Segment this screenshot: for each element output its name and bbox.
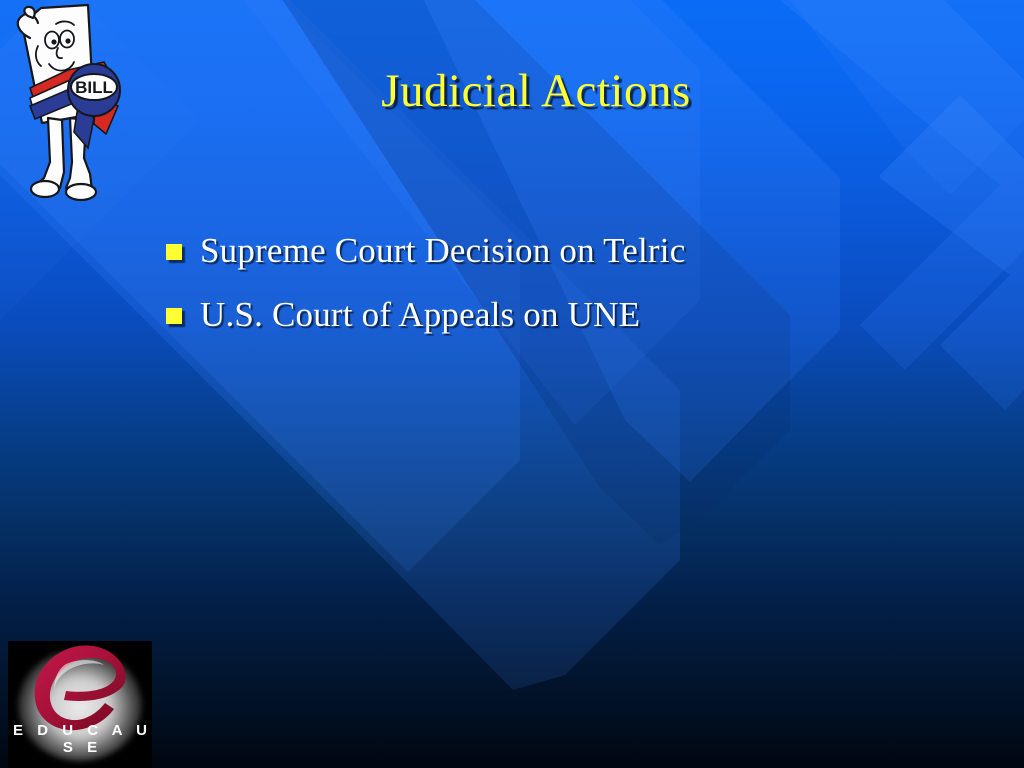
bullet-item-1-text: Supreme Court Decision on Telric (200, 228, 685, 274)
educause-e-glyph (35, 645, 126, 730)
bullet-item-1: Supreme Court Decision on Telric (166, 228, 966, 274)
bullet-item-2-text: U.S. Court of Appeals on UNE (200, 292, 640, 338)
square-bullet-icon (166, 308, 182, 324)
bullet-item-2: U.S. Court of Appeals on UNE (166, 292, 966, 338)
presentation-slide: BILL Judicial Actions Supreme Court Deci… (0, 0, 1024, 768)
bullet-list: Supreme Court Decision on Telric U.S. Co… (166, 228, 966, 356)
ribbon-band-2 (150, 0, 700, 425)
educause-logo: E D U C A U S E (8, 641, 152, 768)
slide-title: Judicial Actions (0, 66, 1024, 118)
square-bullet-icon (166, 244, 182, 260)
educause-wordmark: E D U C A U S E (8, 722, 152, 756)
